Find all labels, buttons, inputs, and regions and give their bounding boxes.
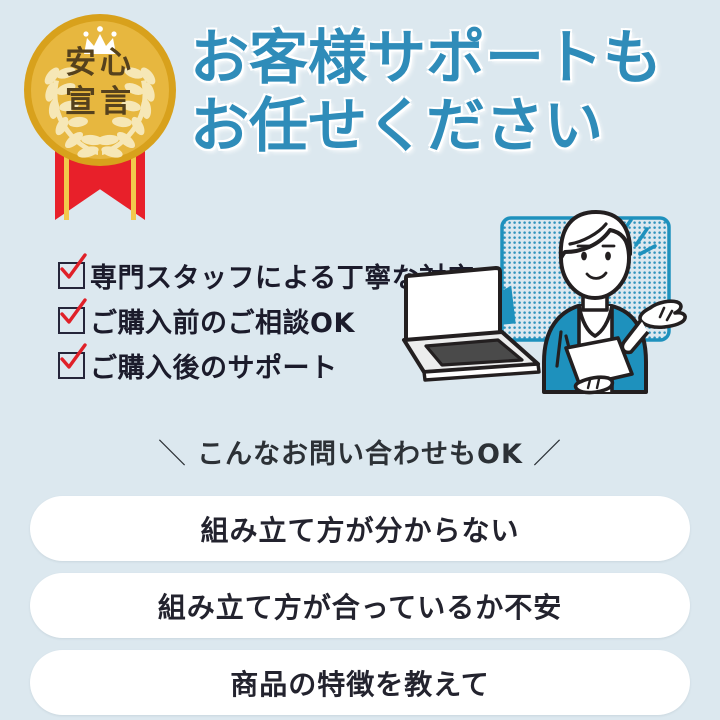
- support-staff-with-laptop-illustration: [398, 196, 720, 428]
- badge-text-line2: 宣言: [24, 83, 176, 122]
- slash-left-icon: ＼: [148, 432, 197, 472]
- list-item[interactable]: 商品の特徴を教えて: [30, 650, 690, 715]
- list-item[interactable]: 組み立て方が合っているか不安: [30, 573, 690, 638]
- anshin-sengen-badge: 安心 宣言: [24, 14, 176, 224]
- checklist-item-label: ご購入前のご相談OK: [90, 301, 355, 340]
- list-item-label: 組み立て方が分からない: [200, 509, 519, 549]
- checkbox-icon: [58, 352, 85, 379]
- list-item[interactable]: 組み立て方が分からない: [30, 496, 690, 561]
- badge-text-line1: 安心: [24, 44, 176, 83]
- check-icon: [58, 253, 88, 283]
- customer-support-banner: 安心 宣言 お客様サポートも お任せください 専門スタッフによる丁寧な対応 ご購…: [0, 0, 720, 720]
- check-icon: [58, 343, 88, 373]
- badge-text: 安心 宣言: [24, 44, 176, 122]
- subheading-text: こんなお問い合わせもOK: [197, 439, 523, 470]
- checkbox-icon: [58, 262, 85, 289]
- list-item-label: 商品の特徴を教えて: [230, 663, 490, 703]
- slash-right-icon: ／: [523, 432, 572, 472]
- page-title: お客様サポートも お任せください: [190, 24, 710, 160]
- headline-line-2: お任せください: [190, 92, 710, 160]
- check-icon: [58, 298, 88, 328]
- subheading: ＼こんなお問い合わせもOK／: [0, 432, 720, 472]
- inquiry-examples-list: 組み立て方が分からない 組み立て方が合っているか不安 商品の特徴を教えて: [30, 496, 690, 720]
- list-item-label: 組み立て方が合っているか不安: [158, 586, 563, 626]
- headline-line-1: お客様サポートも: [190, 24, 710, 92]
- checklist-item-label: ご購入後のサポート: [90, 346, 338, 385]
- checkbox-icon: [58, 307, 85, 334]
